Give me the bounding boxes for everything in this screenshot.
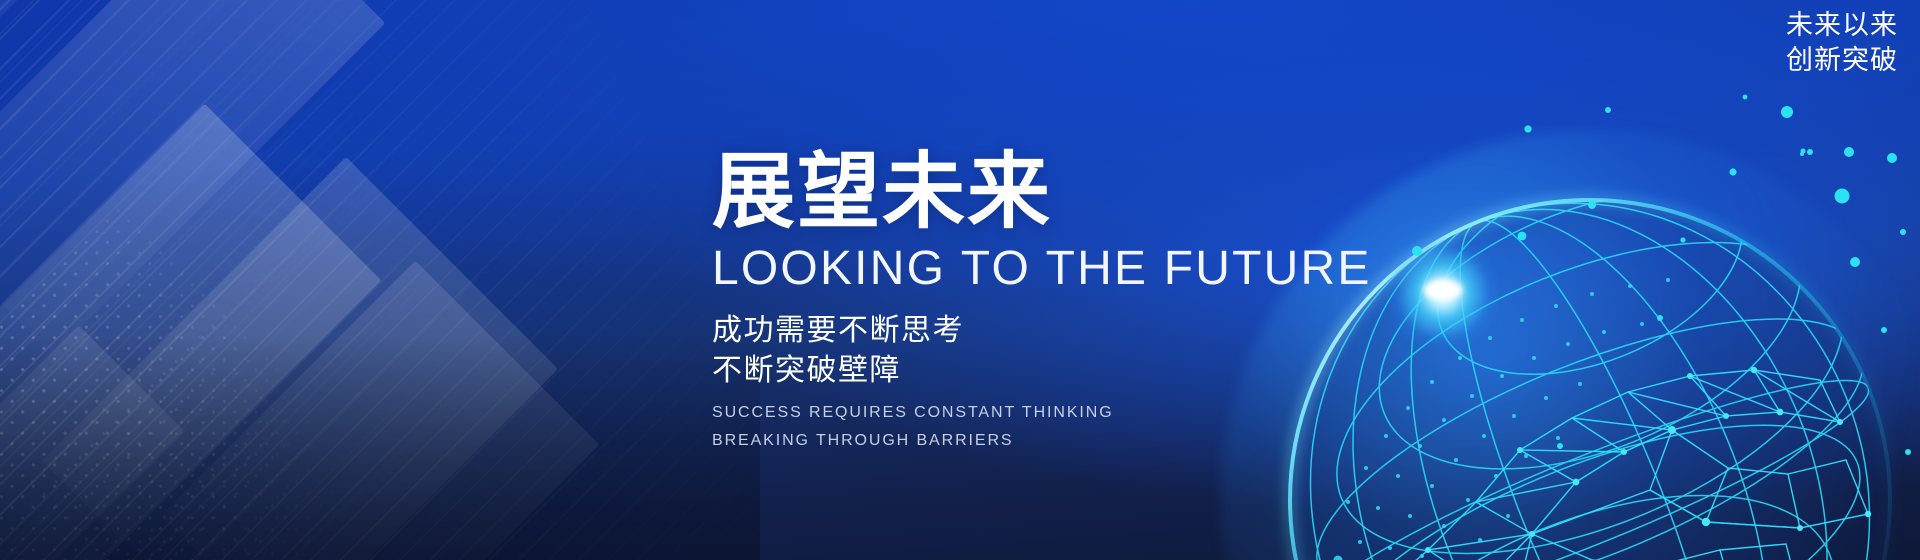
subtitle-en-line-1: SUCCESS REQUIRES CONSTANT THINKING	[712, 400, 1412, 426]
corner-slogan: 未来以来 创新突破	[1786, 8, 1898, 77]
corner-slogan-line-2: 创新突破	[1786, 43, 1898, 78]
corner-vignette	[0, 260, 760, 560]
subtitle-cn-line-1: 成功需要不断思考	[712, 311, 1412, 351]
corner-slogan-line-1: 未来以来	[1786, 8, 1898, 43]
headline-block: 展望未来 LOOKING TO THE FUTURE 成功需要不断思考 不断突破…	[712, 150, 1412, 454]
left-geometric-decoration	[0, 0, 760, 560]
rim-flare-core	[1424, 280, 1462, 300]
promo-banner: 展望未来 LOOKING TO THE FUTURE 成功需要不断思考 不断突破…	[0, 0, 1920, 560]
page-title-en: LOOKING TO THE FUTURE	[712, 243, 1412, 296]
subtitle-cn-line-2: 不断突破壁障	[712, 351, 1412, 391]
subtitle-en-line-2: BREAKING THROUGH BARRIERS	[712, 428, 1412, 454]
page-title-cn: 展望未来	[712, 150, 1412, 235]
